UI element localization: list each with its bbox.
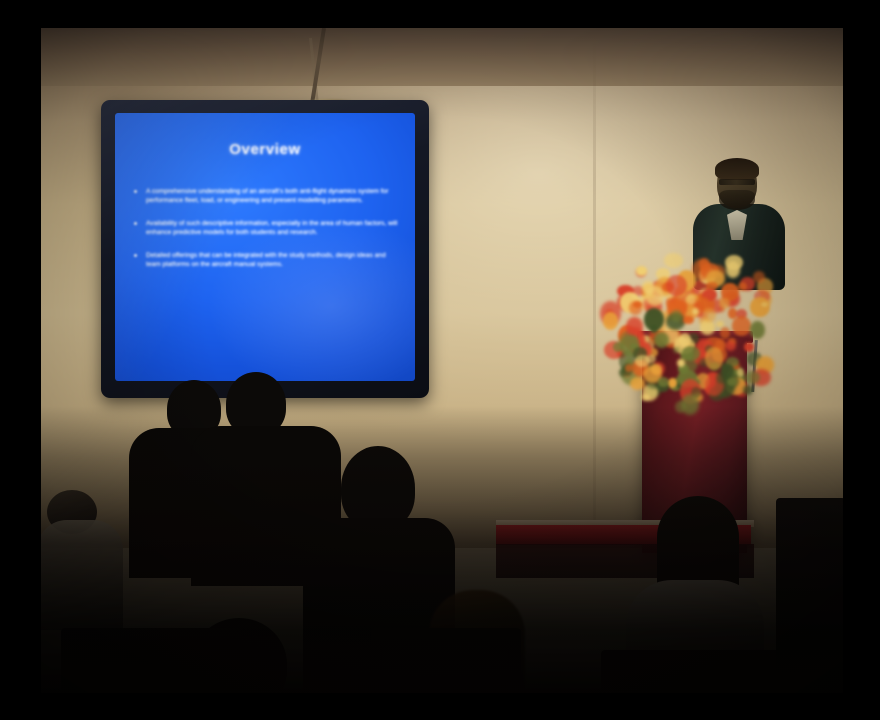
flower-bloom	[750, 321, 765, 339]
flower-bloom	[666, 275, 687, 296]
flower-bloom	[700, 320, 715, 335]
flower-bloom	[683, 316, 694, 324]
flower-bloom	[716, 321, 723, 327]
flower-bloom	[705, 347, 724, 370]
flower-bloom	[679, 333, 691, 347]
flower-bloom	[636, 266, 647, 276]
flower-bloom	[654, 332, 669, 348]
flower-bloom	[703, 308, 715, 322]
flower-bloom	[738, 282, 747, 291]
slide-title: Overview	[115, 141, 415, 158]
flower-bloom	[744, 342, 754, 352]
chair-back	[601, 650, 801, 693]
flower-bloom	[626, 317, 643, 337]
flower-bloom	[671, 310, 681, 321]
presenter-beard	[719, 190, 755, 210]
chair-back	[61, 628, 241, 693]
flower-bloom	[658, 377, 669, 386]
video-frame: Overview A comprehensive understanding o…	[0, 0, 880, 720]
flower-bloom	[645, 355, 655, 363]
letterbox-bar-bottom	[0, 693, 880, 720]
flower-bloom	[625, 364, 632, 371]
flower-bloom	[629, 301, 642, 314]
flower-bloom	[725, 341, 736, 351]
flower-bloom	[630, 377, 646, 390]
presenter-hair	[715, 158, 759, 180]
flower-bloom	[664, 253, 683, 268]
pillarbox-bar-left	[0, 0, 41, 720]
video-picture: Overview A comprehensive understanding o…	[41, 28, 843, 693]
flower-bloom	[682, 346, 700, 362]
chair-back	[371, 628, 521, 693]
flower-bloom	[750, 297, 770, 318]
slide-bullet-2: Availability of such descriptive informa…	[133, 219, 401, 238]
flower-bloom	[727, 378, 736, 385]
letterbox-bar-top	[0, 0, 880, 28]
flower-bloom	[743, 385, 754, 395]
slide-bullet-3: Detailed offerings that can be integrate…	[133, 251, 401, 270]
presentation-slide: Overview A comprehensive understanding o…	[115, 113, 415, 381]
projection-screen-surface: Overview A comprehensive understanding o…	[115, 113, 415, 381]
flower-bloom	[686, 294, 696, 305]
flower-bloom	[677, 359, 685, 368]
flower-bloom	[726, 261, 741, 278]
flower-bloom	[692, 308, 700, 315]
flower-bloom	[668, 378, 677, 388]
attendee-body	[41, 520, 123, 630]
flower-bloom	[603, 312, 618, 330]
room-ceiling	[41, 28, 843, 86]
projection-screen-bezel: Overview A comprehensive understanding o…	[101, 100, 429, 398]
wall-seam	[593, 28, 596, 528]
pillarbox-bar-right	[843, 0, 880, 720]
eyeglasses-icon	[719, 179, 755, 185]
flower-bloom	[641, 394, 649, 402]
flower-bloom	[719, 298, 730, 309]
slide-bullet-1: A comprehensive understanding of an airc…	[133, 187, 401, 206]
flower-bloom	[720, 327, 730, 339]
chair-back	[776, 498, 843, 693]
flower-bloom	[721, 364, 734, 376]
floral-arrangement	[601, 246, 791, 406]
flower-bloom	[732, 316, 751, 335]
slide-bullet-list: A comprehensive understanding of an airc…	[133, 187, 401, 282]
